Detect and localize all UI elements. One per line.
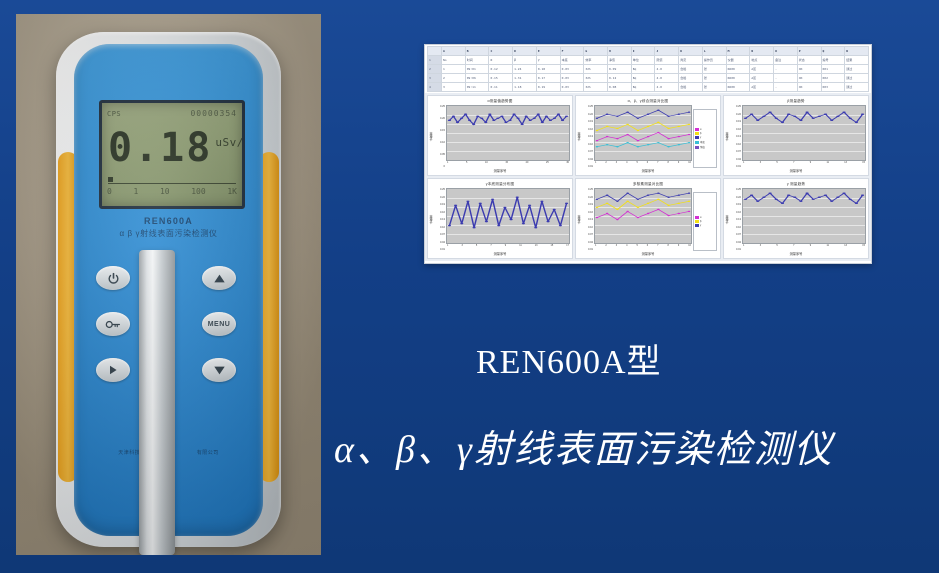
chart-data-point [744,118,747,119]
chart-legend-swatch [695,220,699,223]
chart-body: 计数率0.250.220.190.160.130.100.070.040.011… [724,187,868,251]
chart-data-point [500,116,503,117]
chart-data-point [596,130,598,131]
chart-plot-area [594,188,692,244]
chart-y-tick: 0.25 [583,105,593,108]
table-cell[interactable]: 1 [442,65,466,74]
lcd-counter: 00000354 [190,109,237,118]
chart-body: 计数率0.250.200.150.100.050151015202530 [428,104,572,168]
chart-legend-item: α [695,128,715,131]
chart-series-line [597,209,689,219]
lcd-display: CPS 00000354 0.18 uSv/h 0 1 10 100 1K [99,100,245,209]
chart-x-tick: 7 [490,244,491,251]
chart-x-tick: 9 [678,161,679,168]
chart-data-point [657,209,659,210]
chart-legend-label: β [700,220,701,223]
chart-y-tick: 0.10 [583,143,593,146]
table-cell[interactable]: A区 [750,65,774,74]
table-cell[interactable]: 003 [821,83,845,92]
chart-title: γ 测量趋势 [724,179,868,187]
chart-data-point [460,223,463,224]
slide-canvas: CPS 00000354 0.18 uSv/h 0 1 10 100 1K [0,0,939,573]
chart-y-axis-label: 计数率 [429,132,435,141]
chart-data-point [504,122,507,123]
table-cell[interactable]: 32% [584,83,608,92]
chart-series-line [597,110,689,118]
chart-data-point [647,203,649,204]
chart-y-tick: 0.25 [435,188,445,191]
table-cell[interactable]: 0.03 [560,74,584,83]
product-title-line1: REN600A型 [476,334,662,383]
chart-data-point [657,109,659,110]
chart-x-tick: 6 [647,161,648,168]
table-cell[interactable]: No [442,56,466,65]
chart-series-svg [743,106,865,160]
software-screenshot-panel: ABCDEFGHIJKLMNOPQR1No时间αβγ本底效率净值单位限值判定操作… [424,44,872,264]
chart-plot-area [594,105,692,161]
chart-data-point [750,114,753,115]
table-column-header: F [560,47,584,56]
table-cell[interactable]: 状态 [797,56,821,65]
table-cell[interactable]: OK [797,65,821,74]
table-cell[interactable]: Bq [631,83,655,92]
chart-x-axis-label: 测量序号 [724,251,868,258]
chart-data-point [468,120,471,121]
chart-x-ticks: 13579111315 [742,244,866,251]
table-cell[interactable]: 0.17 [536,74,560,83]
table-row[interactable]: 2109:010.121.240.180.0332%0.09Bq4.0合格张R6… [428,65,869,74]
table-cell[interactable]: 合格 [679,74,703,83]
table-cell[interactable]: 编号 [821,56,845,65]
chart-data-point [657,142,659,143]
table-cell[interactable]: 净值 [608,56,632,65]
chart-data-point [516,197,519,198]
table-cell[interactable]: OK [797,83,821,92]
chart-series-line [745,112,862,122]
chart-data-point [781,122,784,123]
chart-x-ticks: 1357911131517 [446,244,570,251]
table-cell[interactable]: 1.31 [513,74,537,83]
table-cell[interactable]: 0.03 [560,65,584,74]
table-row[interactable]: 1No时间αβγ本底效率净值单位限值判定操作员仪器地点备注状态编号结果 [428,56,869,65]
chart-x-tick: 15 [862,244,865,251]
chart-series-line [597,199,689,209]
table-row[interactable]: 3209:060.151.310.170.0332%0.12Bq4.0合格张R6… [428,74,869,83]
chart-data-point [508,120,511,121]
chart-data-point [667,146,669,147]
chart-data-point [678,136,680,137]
chart-data-point [540,201,543,202]
chart-data-point [522,223,525,224]
chart-x-axis-label: 测量序号 [428,168,572,175]
chart-x-tick: 5 [636,244,637,251]
table-cell[interactable]: 地点 [750,56,774,65]
chart-data-point [596,146,598,147]
chart-y-ticks: 0.250.220.190.160.130.100.070.040.01 [435,188,446,251]
table-cell[interactable]: 4.0 [655,83,679,92]
chart-data-point [565,116,568,117]
chart-legend-item: 净值 [695,145,715,149]
chart-x-tick: 7 [793,244,794,251]
chart-plot-wrapper: 1357911131517 [446,188,570,251]
chart-data-point [476,116,479,117]
chart-y-axis-label: 计数率 [577,215,583,224]
table-cell[interactable]: 0.12 [608,74,632,83]
chart-x-tick: 9 [810,161,811,168]
chart-legend[interactable]: αβγ本底净值 [693,109,717,168]
chart-body: 计数率0.250.220.190.160.130.100.070.040.011… [428,187,572,251]
chart-data-point [479,203,482,204]
chart-data-point [781,203,784,204]
chart-plot-area [742,188,866,244]
table-cell[interactable]: 09:06 [465,74,489,83]
chart-data-point [688,112,690,113]
table-column-header: G [584,47,608,56]
chart-y-tick: 0.19 [435,203,445,206]
play-button[interactable] [96,358,130,382]
chart-panel[interactable]: α测量值趋势图计数率0.250.200.150.100.050151015202… [427,95,573,176]
table-cell[interactable]: 0.19 [536,83,560,92]
chart-data-point [799,120,802,121]
table-cell[interactable]: Bq [631,74,655,83]
chart-data-point [529,120,532,121]
chart-y-axis-label: 计数率 [577,132,583,141]
table-cell[interactable]: R600 [726,74,750,83]
chart-y-tick: 0.13 [731,135,741,138]
chart-x-tick: 13 [844,244,847,251]
chart-data-point [818,197,821,198]
chart-legend-label: β [700,132,701,135]
table-column-header: M [726,47,750,56]
chart-panel[interactable]: 多核素测量对比图计数率0.250.220.190.160.130.100.070… [575,178,721,259]
table-cell[interactable]: 0.03 [560,83,584,92]
device-model-name: REN600A [74,216,263,226]
up-button[interactable] [202,266,236,290]
chart-data-point [473,227,476,228]
chart-y-tick: 0.16 [731,128,741,131]
table-column-header: B [465,47,489,56]
device-model-subtitle: α β γ射线表面污染检测仪 [74,228,263,239]
table-cell[interactable]: 32% [584,65,608,74]
chart-legend-label: α [700,128,701,131]
table-cell[interactable]: 002 [821,74,845,83]
table-cell[interactable]: 结果 [845,56,869,65]
chart-data-point [637,146,639,147]
table-cell[interactable]: 1.24 [513,65,537,74]
chart-y-tick: 0.15 [435,129,445,132]
table-cell[interactable]: 张 [702,65,726,74]
table-cell[interactable]: 09:01 [465,65,489,74]
table-cell[interactable]: β [513,56,537,65]
chart-panel[interactable]: γ 测量趋势计数率0.250.220.190.160.130.100.070.0… [723,178,869,259]
down-button[interactable] [202,358,236,382]
chart-x-tick: 5 [466,161,467,168]
table-cell[interactable]: 0.09 [608,65,632,74]
table-cell[interactable]: 张 [702,83,726,92]
chart-title: α测量值趋势图 [428,96,572,104]
table-column-header: L [702,47,726,56]
chart-legend[interactable]: αβγ [693,192,717,251]
table-cell[interactable]: 3 [442,83,466,92]
table-cell[interactable]: 单位 [631,56,655,65]
table-cell[interactable]: - [774,65,798,74]
lcd-scale: 0 1 10 100 1K [107,185,237,197]
table-cell[interactable]: 限值 [655,56,679,65]
chart-series-svg [595,189,691,243]
chart-y-ticks: 0.250.220.190.160.130.100.070.040.01 [731,188,742,251]
chart-data-point [793,197,796,198]
chart-data-point [472,124,475,125]
table-cell[interactable]: 32% [584,74,608,83]
chart-data-point [596,199,598,200]
product-title-line2: α、β、γ射线表面污染检测仪 [334,418,834,473]
table-cell[interactable]: 1.18 [513,83,537,92]
chart-data-point [750,195,753,196]
chart-panel[interactable]: γ本底测量分布图计数率0.250.220.190.160.130.100.070… [427,178,573,259]
chart-x-tick: 17 [566,244,569,251]
table-cell[interactable]: 0.18 [536,65,560,74]
lcd-scale-tick: 100 [191,187,205,196]
chart-data-point [626,112,628,113]
table-cell[interactable]: - [774,74,798,83]
chart-y-ticks: 0.250.200.150.100.050 [435,105,446,168]
chart-y-axis: 计数率0.250.220.190.160.130.100.070.040.01 [577,105,594,168]
table-cell[interactable]: 合格 [679,65,703,74]
table-cell[interactable]: OK [797,74,821,83]
chart-x-tick: 7 [793,161,794,168]
chart-x-ticks: 13579111315 [742,161,866,168]
table-cell[interactable]: 4.0 [655,74,679,83]
chart-data-point [678,126,680,127]
chart-data-point [855,203,858,204]
chart-y-axis-label: 计数率 [725,215,731,224]
chart-data-point [616,209,618,210]
chart-legend-label: 本底 [700,140,705,144]
chart-x-axis-label: 测量序号 [724,168,868,175]
table-cell[interactable]: 0.11 [489,83,513,92]
table-cell[interactable]: 4.0 [655,65,679,74]
chart-y-tick: 0.19 [731,203,741,206]
chart-data-point [855,122,858,123]
chart-legend-swatch [695,224,699,227]
chart-data-point [818,116,821,117]
chart-panel[interactable]: β测量趋势计数率0.250.220.190.160.130.100.070.04… [723,95,869,176]
chart-data-point [688,201,690,202]
chart-plot-wrapper: 13579111315 [742,188,866,251]
chart-y-tick: 0.10 [435,226,445,229]
chart-data-point [647,195,649,196]
chart-y-tick: 0.22 [435,196,445,199]
chart-series-line [449,114,566,124]
chart-x-tick: 11 [826,161,828,168]
chart-legend-swatch [695,146,699,149]
chart-title: α、β、γ综合测量对比图 [576,96,720,104]
table-cell[interactable]: 时间 [465,56,489,65]
chart-data-point [596,207,598,208]
chart-x-tick: 3 [760,161,761,168]
chart-data-point [678,213,680,214]
chart-data-point [626,124,628,125]
chart-data-point [787,195,790,196]
table-cell[interactable]: A区 [750,74,774,83]
table-cell[interactable]: 通过 [845,74,869,83]
chart-x-tick: 1 [447,161,448,168]
table-cell[interactable]: 仪器 [726,56,750,65]
table-cell[interactable]: γ [536,56,560,65]
chart-x-tick: 1 [743,244,744,251]
chart-data-point [657,132,659,133]
chart-y-tick: 0.04 [731,241,741,244]
chart-data-point [606,213,608,214]
chart-plot-wrapper: 13579111315 [742,105,866,168]
table-column-header: O [774,47,798,56]
table-cell[interactable]: 张 [702,74,726,83]
chart-data-point [849,199,852,200]
table-cell[interactable]: 效率 [584,56,608,65]
table-column-header: J [655,47,679,56]
table-cell[interactable]: 0.12 [489,65,513,74]
chart-series-svg [447,106,569,160]
chart-x-tick: 15 [862,161,865,168]
chart-data-point [512,114,515,115]
chart-x-tick: 5 [776,244,777,251]
chart-y-tick: 0.10 [435,141,445,144]
table-cell[interactable]: 判定 [679,56,703,65]
chart-series-line [597,122,689,130]
table-cell[interactable]: Bq [631,65,655,74]
table-cell[interactable]: α [489,56,513,65]
chart-x-axis-label: 测量序号 [576,168,720,175]
chart-data-point [606,114,608,115]
table-row[interactable]: 4309:110.111.180.190.0332%0.08Bq4.0合格张R6… [428,83,869,92]
chart-x-tick: 3 [616,244,617,251]
chart-data-point [553,118,556,119]
chart-legend-item: 本底 [695,140,715,144]
table-cell[interactable]: R600 [726,83,750,92]
device-handle-strip [139,250,175,555]
chart-legend-swatch [695,132,699,135]
chart-data-point [637,130,639,131]
table-cell[interactable]: 操作员 [702,56,726,65]
chart-data-point [647,136,649,137]
table-cell[interactable]: 0.15 [489,74,513,83]
chart-data-point [678,203,680,204]
table-cell[interactable]: A区 [750,83,774,92]
chart-x-ticks: 12345678910 [594,161,692,168]
chart-data-point [626,192,628,193]
chart-data-point [448,225,451,226]
chart-y-tick: 0.16 [435,211,445,214]
power-button[interactable] [96,266,130,290]
table-cell[interactable]: - [774,83,798,92]
chart-data-point [546,221,549,222]
chart-title: γ本底测量分布图 [428,179,572,187]
table-column-header: C [489,47,513,56]
lcd-unit: uSv/h [215,136,245,149]
table-column-header: R [845,47,869,56]
table-cell[interactable]: 09:11 [465,83,489,92]
chart-x-tick: 10 [485,161,488,168]
chart-data-point [616,128,618,129]
chart-x-tick: 15 [505,161,508,168]
table-cell[interactable]: 通过 [845,65,869,74]
menu-button[interactable]: MENU [202,312,236,336]
chart-legend-item: γ [695,136,715,139]
table-cell[interactable]: R600 [726,65,750,74]
chart-data-point [616,201,618,202]
table-cell[interactable]: 2 [442,74,466,83]
table-column-header: K [679,47,703,56]
chart-data-point [688,134,690,135]
chart-data-point [517,118,520,119]
lcd-value: 0.18 [108,128,212,168]
chart-data-point [448,120,451,121]
table-header-row: ABCDEFGHIJKLMNOPQR [428,47,869,56]
chart-data-point [657,122,659,123]
chart-y-tick: 0.25 [731,188,741,191]
chart-y-tick: 0.10 [731,143,741,146]
table-cell[interactable]: 合格 [679,83,703,92]
chart-y-tick: 0.04 [731,158,741,161]
key-icon [105,319,121,330]
chart-x-tick: 7 [657,244,658,251]
chart-data-point [775,118,778,119]
table-column-header: A [442,47,466,56]
chart-x-tick: 2 [605,244,606,251]
data-table: ABCDEFGHIJKLMNOPQR1No时间αβγ本底效率净值单位限值判定操作… [427,46,869,92]
chart-panel[interactable]: α、β、γ综合测量对比图计数率0.250.220.190.160.130.100… [575,95,721,176]
chart-series-line [597,133,689,141]
chart-data-point [824,195,827,196]
table-cell[interactable]: 本底 [560,56,584,65]
table-cell[interactable]: 001 [821,65,845,74]
chart-data-point [849,118,852,119]
chart-data-point [616,116,618,117]
chart-data-point [452,116,455,117]
chart-y-tick: 0.05 [435,153,445,156]
chart-x-tick: 9 [505,244,506,251]
chart-legend-item: β [695,132,715,135]
chart-y-tick: 0.07 [731,233,741,236]
chart-data-point [806,192,809,193]
chart-legend-label: γ [700,224,701,227]
chart-x-tick: 10 [688,244,691,251]
chart-y-axis: 计数率0.250.220.190.160.130.100.070.040.01 [725,105,742,168]
table-cell[interactable]: 备注 [774,56,798,65]
chart-plot-area [742,105,866,161]
chart-data-point [503,207,506,208]
chart-x-tick: 8 [668,161,669,168]
chart-x-tick: 9 [810,244,811,251]
chart-data-point [842,192,845,193]
table-cell[interactable]: 0.08 [608,83,632,92]
chart-data-point [606,203,608,204]
chart-data-point [756,120,759,121]
chart-data-point [528,205,531,206]
chart-data-point [836,197,839,198]
chart-data-point [525,116,528,117]
chart-y-tick: 0.22 [583,113,593,116]
light-button[interactable] [96,312,130,336]
chart-data-point [678,114,680,115]
chart-data-point [553,209,556,210]
table-corner-cell [428,47,442,56]
chart-data-point [637,217,639,218]
chart-legend-swatch [695,141,699,144]
table-cell[interactable]: 通过 [845,83,869,92]
chart-y-tick: 0.20 [435,117,445,120]
chart-y-ticks: 0.250.220.190.160.130.100.070.040.01 [731,105,742,168]
